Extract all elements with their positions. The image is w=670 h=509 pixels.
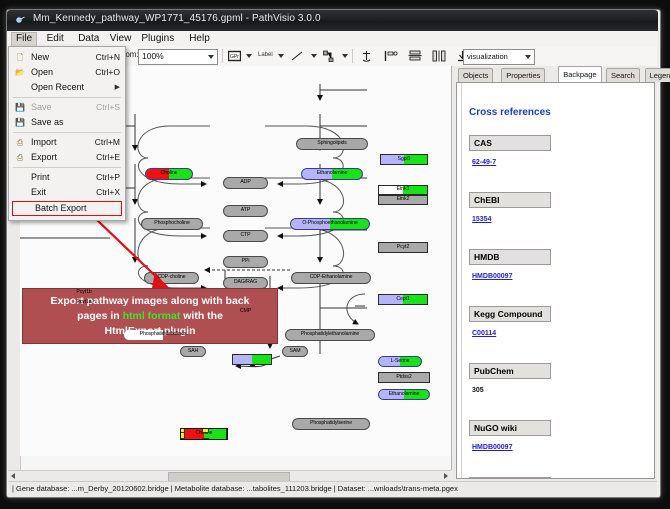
node-label: ADP (240, 180, 250, 185)
menu-item-new[interactable]: 🗋NewCtrl+N (9, 50, 125, 65)
menu-file[interactable]: File (11, 32, 37, 46)
menu-item-label: Save (31, 100, 96, 115)
menu-item-label: Print (31, 170, 96, 185)
tab-legend[interactable]: Legend (645, 68, 670, 82)
menu-item-batch-export[interactable]: Batch Export (12, 201, 122, 216)
pathway-node-phosphocholine[interactable]: Phosphocholine (141, 218, 203, 230)
backpage-content: Cross references CAS62-49-7ChEBI15354HMD… (456, 82, 655, 479)
pathway-node-pemt-group[interactable] (232, 354, 272, 365)
xref-entry-kegg-compound: Kegg CompoundC00114 (469, 306, 551, 340)
node-label: SAM (290, 349, 301, 354)
app-window: Mm_Kennedy_pathway_WP1771_45176.gpml - P… (0, 0, 670, 509)
side-panel-tabs: ObjectsPropertiesBackpageSearchLegend (452, 66, 657, 82)
pathway-node-phosphatidylethanolamine[interactable]: Phosphatidylethanolamine (285, 329, 375, 341)
node-label: CDP-choline (157, 275, 185, 280)
pathway-node-cdp-choline[interactable]: CDP-choline (144, 272, 199, 284)
menu-item-shortcut: Ctrl+E (96, 150, 125, 165)
pathway-node-ctp[interactable]: CTP (223, 230, 268, 242)
new-file-icon: 🗋 (9, 50, 31, 65)
menu-item-open-recent[interactable]: Open Recent▶ (9, 80, 125, 95)
align-columns-icon[interactable] (432, 50, 446, 62)
pathway-node-sam[interactable]: SAM (282, 346, 308, 357)
annotation-line2-b: with the (180, 310, 223, 322)
line-dropdown-icon[interactable] (311, 54, 317, 58)
window-title: Mm_Kennedy_pathway_WP1771_45176.gpml - P… (33, 13, 321, 24)
selection-handle[interactable] (226, 438, 228, 440)
node-fill-left (233, 355, 252, 364)
menu-item-shortcut: Ctrl+M (95, 135, 125, 150)
xref-entry-nugo-wiki: NuGO wikiHMDB00097 (469, 420, 551, 454)
menu-bar: FileEditDataViewPluginsHelp (8, 31, 657, 47)
menu-item-print[interactable]: PrintCtrl+P (9, 170, 125, 185)
node-label: Phosphocholine (154, 221, 190, 226)
menu-view[interactable]: View (106, 33, 136, 45)
chevron-down-icon (525, 55, 531, 59)
pathway-node-cdp-ethanolamine[interactable]: CDP-Ethanolamine (291, 272, 371, 284)
tab-backpage[interactable]: Backpage (558, 66, 601, 82)
menu-edit[interactable]: Edit (43, 33, 68, 45)
xref-database-name: NuGO wiki (469, 420, 551, 436)
menu-item-label: Import (31, 135, 95, 150)
pathway-node-l-serine[interactable]: L-Serine (378, 356, 422, 367)
open-folder-icon: 📂 (9, 65, 31, 80)
pathway-node-o-phosphoethanolamine[interactable]: O-Phosphoethanolamine (290, 218, 370, 230)
zoom-value: 100% (142, 51, 164, 61)
pathway-node-atp[interactable]: ATP (223, 205, 268, 217)
pathway-node-phosphatidylserine[interactable]: Phosphatidylserine (292, 418, 370, 430)
pathway-node-choline-top[interactable]: Choline (145, 168, 193, 180)
xref-link[interactable]: 62-49-7 (469, 159, 496, 166)
menu-plugins[interactable]: Plugins (137, 33, 178, 45)
node-label: CDP-Ethanolamine (310, 275, 353, 280)
xref-entry-pubchem: PubChem305 (469, 363, 551, 397)
node-label: O-Phosphoethanolamine (302, 221, 357, 226)
menu-help[interactable]: Help (185, 33, 214, 45)
annotation-line2-a: pages in (77, 310, 123, 322)
menu-item-label: Open Recent (31, 80, 115, 95)
node-label: Etnk1 (397, 187, 410, 192)
status-text: | Gene database: ...m_Derby_20120602.bri… (12, 484, 458, 493)
align-left-icon[interactable] (384, 50, 398, 62)
interaction-tool-icon[interactable] (323, 50, 336, 62)
save-as-icon: 💾 (9, 115, 31, 130)
pathway-node-ethanolamine-right[interactable]: Ethanolamine (378, 389, 430, 400)
title-bar: Mm_Kennedy_pathway_WP1771_45176.gpml - P… (7, 10, 658, 31)
node-label: CTP (240, 233, 250, 238)
xref-entry-chebi: ChEBI15354 (469, 192, 551, 226)
xref-database-name: CAS (469, 135, 551, 151)
pathway-node-ptdss2[interactable]: Ptdss2 (378, 372, 430, 383)
save-disk-icon: 💾 (9, 100, 31, 115)
menu-item-export[interactable]: ⎙ExportCtrl+E (9, 150, 125, 165)
menu-item-shortcut: Ctrl+O (95, 65, 125, 80)
menu-item-import[interactable]: ⎙ImportCtrl+M (9, 135, 125, 150)
zoom-select[interactable]: 100% (138, 49, 218, 65)
menu-item-save-as[interactable]: 💾Save as (9, 115, 125, 130)
interaction-dropdown-icon[interactable] (342, 54, 348, 58)
submenu-arrow-icon: ▶ (115, 80, 125, 95)
menu-item-label: Exit (31, 185, 96, 200)
scroll-left-icon[interactable] (11, 473, 15, 479)
pathway-node-sah[interactable]: SAH (180, 346, 206, 357)
node-label: Ethanolamine (389, 392, 420, 397)
node-label: L-Serine (391, 359, 410, 364)
node-label: Choline (161, 171, 178, 176)
node-label: CMP (240, 309, 251, 314)
annotation-highlight: html format (123, 310, 181, 322)
xref-link[interactable]: HMDB00097 (469, 273, 512, 280)
align-stack-icon[interactable] (408, 50, 422, 62)
node-label: Ethanolamine (317, 171, 348, 176)
tab-properties[interactable]: Properties (501, 68, 545, 82)
visualization-select[interactable]: visualization (463, 49, 535, 65)
file-menu-dropdown[interactable]: 🗋NewCtrl+N📂OpenCtrl+OOpen Recent▶💾SaveCt… (8, 46, 126, 221)
import-icon: ⎙ (9, 135, 31, 150)
menu-item-label: New (31, 50, 96, 65)
menu-separator (13, 167, 121, 168)
tab-search[interactable]: Search (606, 68, 640, 82)
node-label: Phosphatidylethanolamine (301, 332, 359, 337)
xref-database-name: ChEBI (469, 192, 551, 208)
menu-item-label: Export (31, 150, 96, 165)
xref-link[interactable]: 15354 (469, 216, 491, 223)
anchor-tool-icon[interactable] (360, 50, 373, 62)
node-label: Ptdss2 (396, 375, 411, 380)
menu-item-shortcut: Ctrl+N (96, 50, 125, 65)
menu-item-shortcut: Ctrl+X (96, 185, 125, 200)
menu-item-label: Batch Export (35, 202, 121, 215)
pathway-node-pcyt2[interactable]: Pcyt2 (378, 242, 428, 253)
xref-link[interactable]: HMDB00097 (469, 444, 512, 451)
node-label: DAG/RAG (234, 280, 257, 285)
menu-item-label: Open (31, 65, 95, 80)
line-tool-icon[interactable] (291, 50, 303, 62)
pathway-node-cept1[interactable]: Cept1 (378, 294, 428, 305)
status-bar: | Gene database: ...m_Derby_20120602.bri… (8, 481, 657, 497)
svg-text:GPr: GPr (230, 54, 239, 60)
side-panel: ObjectsPropertiesBackpageSearchLegend Cr… (452, 66, 657, 481)
menu-separator (13, 97, 121, 98)
selection-handle[interactable] (202, 438, 209, 440)
node-label: Pcyt2 (397, 245, 409, 250)
menu-separator (13, 132, 121, 133)
pathway-node-adp[interactable]: ADP (223, 177, 268, 189)
export-icon: ⎙ (9, 150, 31, 165)
pathway-node-choline-selected[interactable]: Choline (180, 428, 228, 440)
node-label: Pcyt1a (76, 300, 91, 305)
pathvisio-icon (15, 15, 26, 26)
cross-references-title: Cross references (469, 107, 551, 118)
node-label: ATP (241, 208, 250, 213)
pathway-node-sphingolipids[interactable]: Sphingolipids (296, 138, 368, 150)
node-label: SAH (188, 349, 198, 354)
node-label: Phosphatidylcholines (140, 332, 187, 337)
menu-item-shortcut: Ctrl+P (96, 170, 125, 185)
xref-entry-hmdb: HMDBHMDB00097 (469, 249, 551, 283)
label-dropdown-icon[interactable] (278, 54, 284, 58)
node-label: Pcyt1b (76, 290, 91, 295)
gene-product-dropdown-icon[interactable] (246, 54, 252, 58)
tab-objects[interactable]: Objects (458, 68, 493, 82)
node-label: Etnk2 (397, 197, 410, 202)
menu-item-open[interactable]: 📂OpenCtrl+O (9, 65, 125, 80)
xref-entry-wikipedia: WikipediaCholine (469, 477, 551, 479)
node-label: PPi (242, 259, 250, 264)
scroll-right-icon[interactable] (444, 473, 448, 479)
xref-database-name: HMDB (469, 249, 551, 265)
menu-item-exit[interactable]: ExitCtrl+X (9, 185, 125, 200)
node-label: Sgpl1 (398, 157, 411, 162)
pathway-node-sgpl1[interactable]: Sgpl1 (380, 154, 428, 165)
label-tool-icon[interactable]: Label (258, 52, 273, 58)
node-label: Phosphatidylserine (310, 421, 352, 426)
pathway-node-etnk2[interactable]: Etnk2 (378, 195, 428, 205)
pathway-node-etnk1[interactable]: Etnk1 (378, 185, 428, 195)
xref-database-name: Kegg Compound (469, 306, 551, 322)
menu-item-shortcut: Ctrl+S (96, 100, 125, 115)
xref-database-name: Wikipedia (469, 477, 551, 479)
selection-handle[interactable] (180, 438, 185, 440)
xref-link[interactable]: C00114 (469, 330, 496, 337)
gene-product-icon[interactable]: GPr (228, 50, 241, 62)
selection-handle[interactable] (202, 428, 209, 433)
menu-item-save: 💾SaveCtrl+S (9, 100, 125, 115)
toolbar-separator (222, 49, 223, 63)
node-label: Cept1 (396, 297, 409, 302)
xref-value: 305 (469, 387, 484, 394)
pathway-node-ethanolamine-top[interactable]: Ethanolamine (301, 168, 363, 180)
pathway-node-ppi[interactable]: PPi (223, 256, 268, 268)
menu-data[interactable]: Data (74, 33, 103, 45)
xref-database-name: PubChem (469, 363, 551, 379)
toolbar-separator (352, 49, 353, 63)
chevron-down-icon (208, 55, 214, 59)
visualization-value: visualization (467, 52, 508, 61)
node-label: Sphingolipids (317, 141, 347, 146)
xref-entry-cas: CAS62-49-7 (469, 135, 551, 169)
menu-item-label: Save as (31, 115, 125, 130)
